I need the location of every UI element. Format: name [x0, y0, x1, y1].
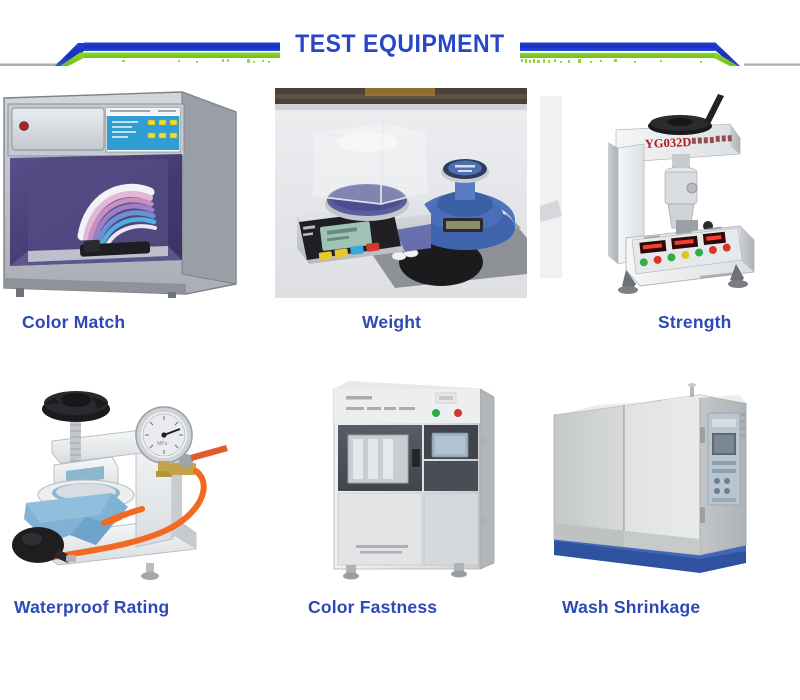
caption-weight: Weight [362, 312, 530, 333]
gallery-item-waterproof-rating[interactable]: MPa [0, 367, 270, 618]
color-fastness-photo [308, 367, 518, 585]
waterproof-rating-photo: MPa [0, 367, 252, 585]
page-title: TEST EQUIPMENT [0, 30, 800, 59]
svg-text:MPa: MPa [157, 441, 168, 447]
header-banner: TEST EQUIPMENT [0, 0, 800, 88]
wash-shrinkage-photo [540, 367, 770, 585]
weight-photo [275, 88, 527, 298]
caption-color-fastness: Color Fastness [308, 597, 530, 618]
gallery-item-color-fastness[interactable]: Color Fastness [270, 367, 530, 618]
gallery-item-color-match[interactable]: Color Match [0, 88, 270, 333]
caption-waterproof-rating: Waterproof Rating [14, 597, 270, 618]
color-match-photo [0, 88, 240, 298]
gallery-row-2: MPa [0, 367, 800, 618]
strength-model-label: YG032D [645, 135, 692, 151]
caption-strength: Strength [658, 312, 800, 333]
caption-wash-shrinkage: Wash Shrinkage [562, 597, 800, 618]
page-title-text: TEST EQUIPMENT [280, 30, 519, 59]
gallery-item-weight[interactable]: Weight [270, 88, 530, 333]
caption-color-match: Color Match [22, 312, 270, 333]
gallery-row-1: Color Match [0, 88, 800, 333]
gallery-item-strength[interactable]: YG032D [530, 88, 800, 333]
equipment-gallery: Color Match [0, 88, 800, 618]
strength-photo: YG032D [540, 88, 790, 298]
gallery-item-wash-shrinkage[interactable]: Wash Shrinkage [530, 367, 800, 618]
